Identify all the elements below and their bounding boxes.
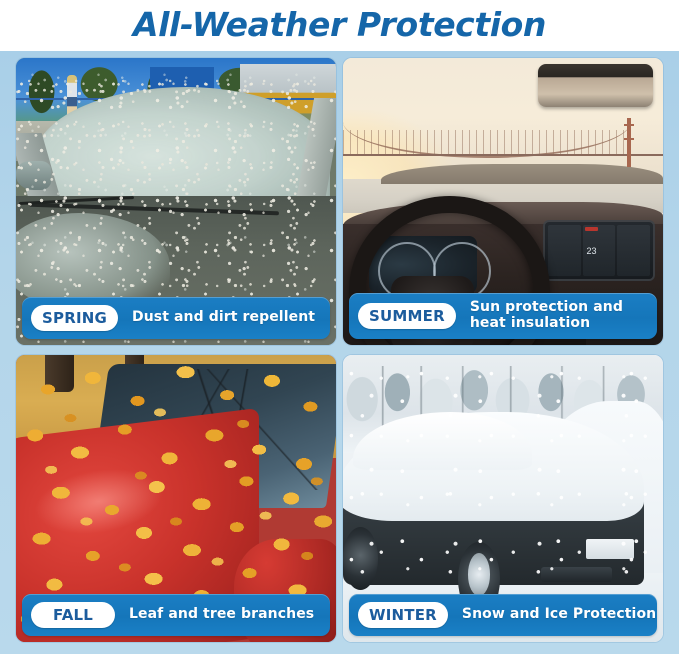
- caption-text-winter: Snow and Ice Protection: [462, 607, 656, 623]
- screen-temperature-value: 23: [587, 246, 597, 256]
- screen-tile-map: [548, 225, 581, 276]
- far-shoreline-hills: [381, 164, 663, 184]
- bridge-hanger-cables: [343, 130, 631, 156]
- season-pill-summer: SUMMER: [358, 303, 456, 329]
- season-panel-grid: SPRING Dust and dirt repellent: [16, 58, 663, 642]
- screen-tile-media: 23: [583, 225, 616, 276]
- season-pill-fall: FALL: [31, 602, 115, 628]
- page-title: All-Weather Protection: [133, 8, 546, 43]
- caption-text-spring: Dust and dirt repellent: [132, 310, 315, 326]
- caption-bar-spring: SPRING Dust and dirt repellent: [22, 297, 330, 339]
- rearview-mirror: [538, 64, 653, 107]
- product-infographic: All-Weather Protection: [0, 0, 679, 654]
- caption-bar-summer: SUMMER Sun protection and heat insulatio…: [349, 293, 657, 339]
- infotainment-screen: 23: [545, 222, 654, 279]
- caption-text-summer: Sun protection and heat insulation: [470, 300, 623, 331]
- caption-bar-winter: WINTER Snow and Ice Protection: [349, 594, 657, 636]
- bridge-tower: [627, 118, 631, 167]
- season-panel-summer[interactable]: 23 SUMMER Sun protection and heat insula…: [343, 58, 663, 345]
- bridge-deck: [343, 154, 663, 156]
- screen-tile-connected-drive: [617, 225, 650, 276]
- season-panel-fall[interactable]: FALL Leaf and tree branches: [16, 355, 336, 642]
- season-pill-spring: SPRING: [31, 305, 118, 331]
- season-panel-winter[interactable]: WINTER Snow and Ice Protection: [343, 355, 663, 642]
- season-pill-winter: WINTER: [358, 602, 448, 628]
- season-panel-spring[interactable]: SPRING Dust and dirt repellent: [16, 58, 336, 345]
- header-band: All-Weather Protection: [0, 0, 679, 51]
- caption-text-fall: Leaf and tree branches: [129, 607, 314, 623]
- caption-bar-fall: FALL Leaf and tree branches: [22, 594, 330, 636]
